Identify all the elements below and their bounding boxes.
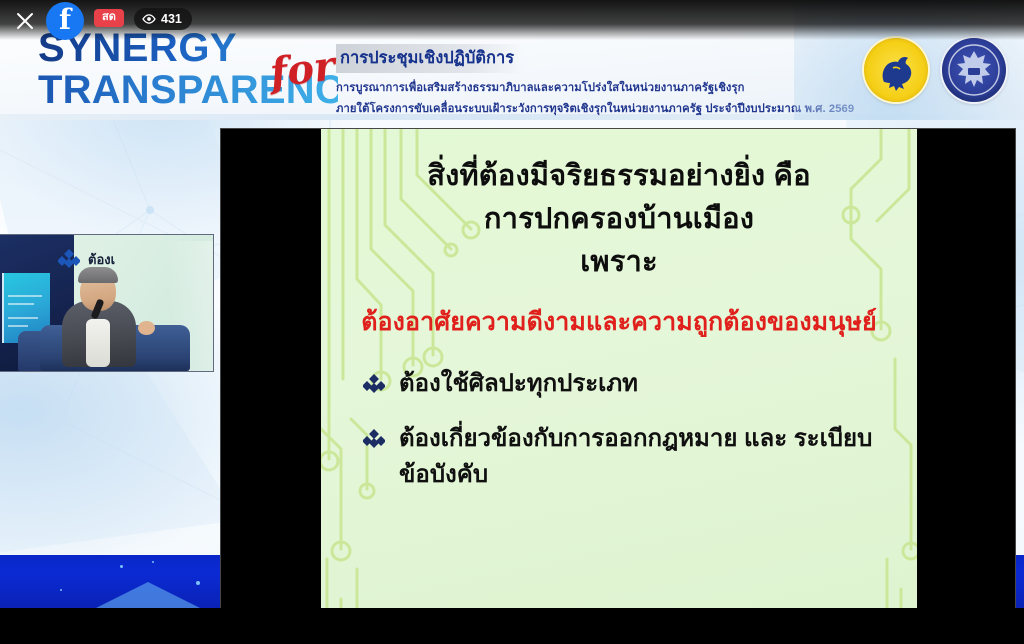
gold-lion-emblem-icon [864,38,928,102]
live-stream-screen: SYNERGY TRANSPARENCY for การประชุมเชิงปฏ… [0,0,1024,644]
viewer-count-pill: 431 [134,8,192,30]
garuda-glyph [942,38,1006,102]
diamond-cluster-glyph [58,249,80,269]
band-spark [120,565,123,568]
facebook-logo-glyph: f [59,6,71,34]
slide-title: สิ่งที่ต้องมีจริยธรรมอย่างยิ่ง คือ การปก… [343,155,895,284]
pip-diamond-bullet-icon [58,249,80,269]
diamond-cluster-bullet-icon [363,429,385,454]
presentation-slide: สิ่งที่ต้องมีจริยธรรมอย่างยิ่ง คือ การปก… [321,129,917,608]
band-spark [196,581,200,585]
facebook-logo-icon[interactable]: f [46,2,84,40]
event-subtitle-line-1: การบูรณาการเพื่อเสริมสร้างธรรมาภิบาลและค… [336,78,830,96]
pip-speaker-hair [78,267,118,283]
blue-garuda-emblem-icon [942,38,1006,102]
band-spark [60,589,62,591]
close-button[interactable] [10,6,40,36]
live-player-top-bar: f สด 431 [0,0,1024,40]
broadcast-video-canvas[interactable]: SYNERGY TRANSPARENCY for การประชุมเชิงปฏ… [0,0,1024,608]
government-emblems [864,38,1006,102]
eye-icon [142,14,156,24]
event-subtitle-line-2: ภายใต้โครงการขับเคลื่อนระบบเฝ้าระวังการท… [336,99,830,117]
pip-speaker-shirt [86,319,110,367]
speaker-pip-video[interactable]: ต้องเ ระเบี [0,234,214,372]
bullet-text: ต้องใช้ศิลปะทุกประเภท [399,366,638,402]
slide-title-line-2: การปกครองบ้านเมือง [343,198,895,241]
band-triangle-decor [96,582,200,608]
slide-content: สิ่งที่ต้องมีจริยธรรมอย่างยิ่ง คือ การปก… [321,129,917,608]
slide-bullet-list: ต้องใช้ศิลปะทุกประเภท [343,366,895,493]
header-text-block: การประชุมเชิงปฏิบัติการ การบูรณาการเพื่อ… [336,44,830,117]
diamond-cluster-glyph [363,374,385,394]
slide-title-line-3: เพราะ [343,241,895,284]
player-bottom-bar[interactable] [0,608,1024,644]
diamond-cluster-bullet-icon [363,374,385,399]
bullet-text: ต้องเกี่ยวข้องกับการออกกฎหมาย และ ระเบีย… [399,421,895,494]
live-status-badge: สด [94,9,124,27]
band-spark [152,561,154,563]
list-item: ต้องใช้ศิลปะทุกประเภท [363,366,895,402]
lion-glyph [864,38,928,102]
close-icon [15,11,35,31]
slide-title-line-1: สิ่งที่ต้องมีจริยธรรมอย่างยิ่ง คือ [343,155,895,198]
pip-speaker-hand [138,321,155,335]
logo-for-script: for [268,46,337,94]
event-logo: SYNERGY TRANSPARENCY for [38,28,338,114]
shared-slide-frame: สิ่งที่ต้องมีจริยธรรมอย่างยิ่ง คือ การปก… [220,128,1016,608]
list-item: ต้องเกี่ยวข้องกับการออกกฎหมาย และ ระเบีย… [363,421,895,494]
viewer-count-value: 431 [161,12,182,26]
slide-highlight-text: ต้องอาศัยความดีงามและความถูกต้องของมนุษย… [343,306,895,339]
diamond-cluster-glyph [363,429,385,449]
